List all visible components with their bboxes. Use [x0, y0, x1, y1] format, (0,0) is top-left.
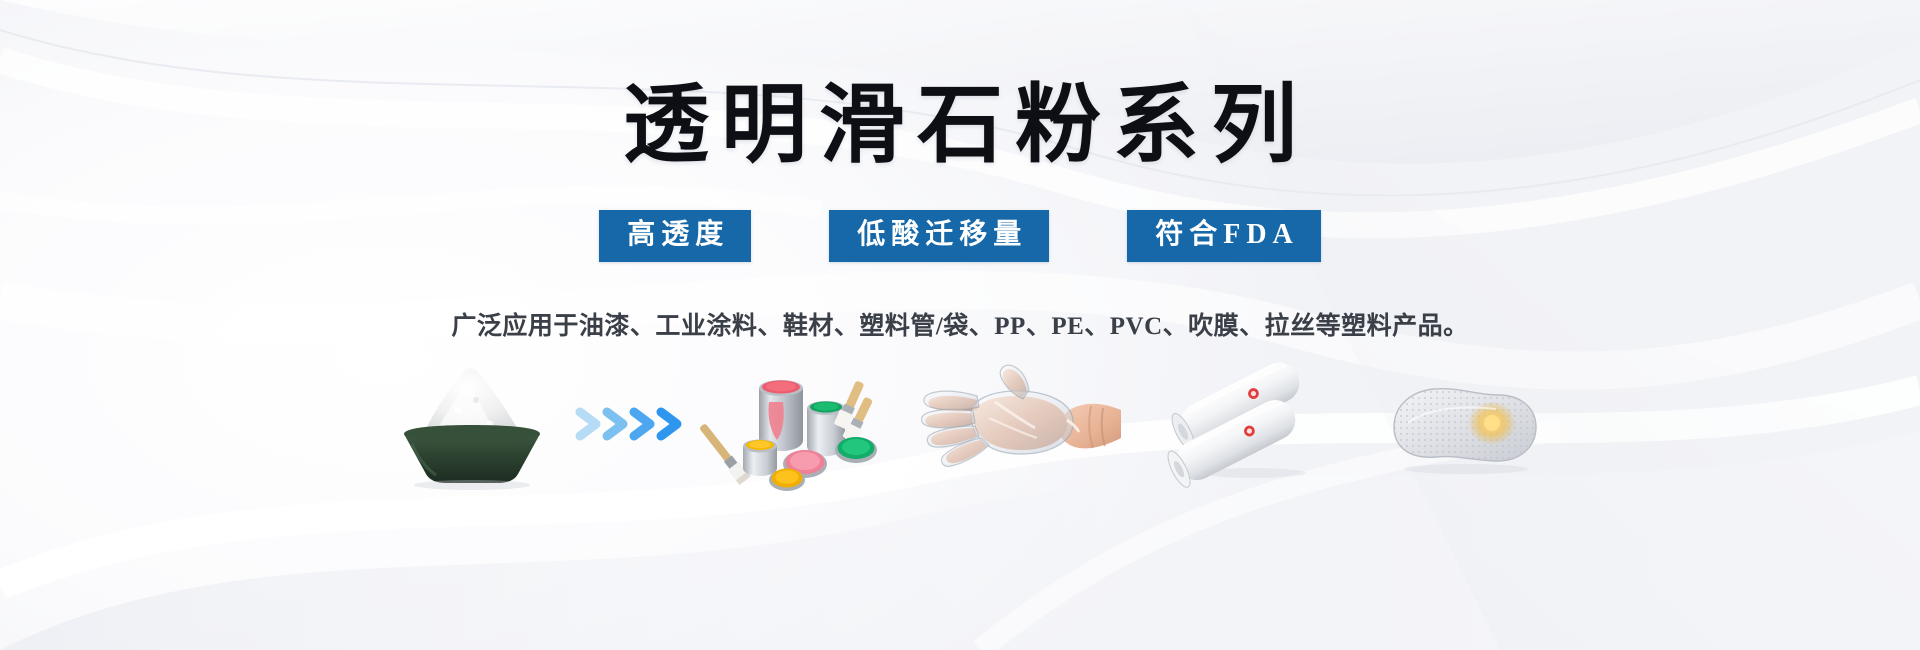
- badge-fda-compliant: 符合FDA: [1127, 210, 1321, 262]
- product-banner: 透明滑石粉系列 高透度 低酸迁移量 符合FDA 广泛应用于油漆、工业涂料、鞋材、…: [0, 0, 1920, 650]
- talc-powder-bowl-image: [372, 364, 572, 484]
- chevron-arrows-icon: [572, 394, 702, 454]
- application-description: 广泛应用于油漆、工业涂料、鞋材、塑料管/袋、PP、PE、PVC、吹膜、拉丝等塑料…: [451, 306, 1468, 342]
- paint-cans-image: [702, 364, 887, 484]
- badge-low-acid-migration: 低酸迁移量: [829, 210, 1049, 262]
- page-title: 透明滑石粉系列: [611, 82, 1309, 168]
- feature-badge-row: 高透度 低酸迁移量 符合FDA: [599, 210, 1321, 262]
- shoe-insole-image: [1374, 367, 1549, 482]
- plastic-glove-hand-image: [925, 369, 1125, 479]
- product-image-row: [0, 364, 1920, 484]
- plastic-film-rolls-image: [1159, 369, 1344, 479]
- badge-high-transparency: 高透度: [599, 210, 751, 262]
